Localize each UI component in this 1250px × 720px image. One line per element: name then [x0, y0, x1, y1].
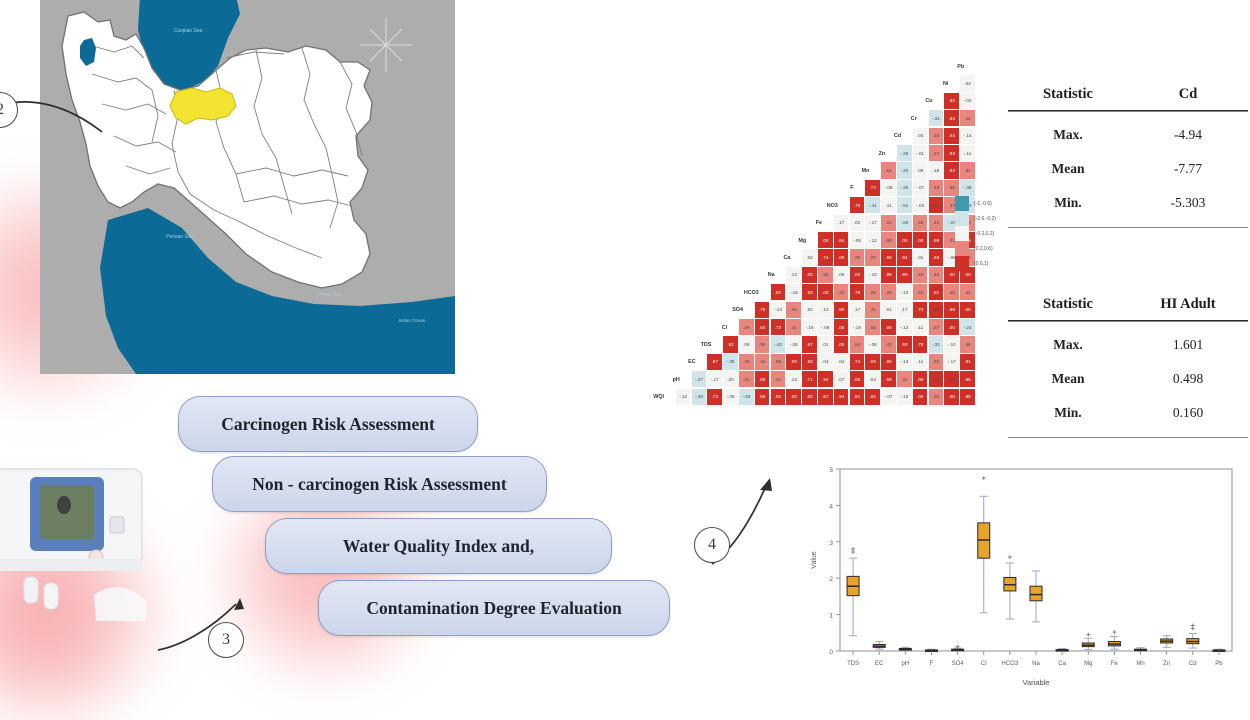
x-tick-label: HCO3	[1002, 661, 1019, 667]
corr-cell: -.13	[897, 354, 912, 370]
corr-cell: .71	[802, 371, 817, 387]
cell-statistic: Mean	[1008, 161, 1128, 177]
corr-row-label-f: F	[832, 180, 854, 197]
corr-cell: -.41	[865, 197, 880, 213]
cell-value: 0.498	[1128, 371, 1248, 387]
corr-cell: -.50	[897, 215, 912, 231]
cell-statistic: Min.	[1008, 405, 1128, 421]
cell-statistic: Max.	[1008, 127, 1128, 143]
legend-swatch	[955, 211, 969, 226]
correlation-matrix-grid: PbNi.03Cu.82-.03Cr-.31.63.42Cd.04.25.64-…	[628, 52, 976, 442]
corr-cell: .94	[818, 371, 833, 387]
corr-cell: .66	[881, 249, 896, 265]
corr-cell: .81	[929, 284, 944, 300]
corr-cell: .85	[881, 354, 896, 370]
corr-cell: .11	[913, 319, 928, 335]
corr-cell: .03	[960, 75, 975, 91]
corr-cell: .01	[818, 336, 833, 352]
corr-cell: .29	[881, 284, 896, 300]
corr-cell: .00	[834, 319, 849, 335]
step-marker-4-label: 4	[708, 536, 716, 554]
corr-cell: .83	[802, 284, 817, 300]
corr-cell: -.08	[881, 180, 896, 196]
cell-value: -7.77	[1128, 161, 1248, 177]
corr-cell: .41	[865, 302, 880, 318]
boxplot-chart: 012345ValueTDSECpHFSO4ClHCO3NaCaMgFeMnZn…	[806, 457, 1246, 695]
corr-cell: .40	[929, 215, 944, 231]
corr-cell: -.27	[692, 371, 707, 387]
corr-cell: -.09	[818, 319, 833, 335]
legend-swatch	[955, 241, 969, 256]
corr-row-label-cu: Cu	[911, 93, 933, 110]
table-row: Min. -5.303	[1008, 186, 1248, 220]
corr-cell: .94	[834, 389, 849, 405]
corr-cell: .17	[850, 302, 865, 318]
corr-cell: .11	[881, 197, 896, 213]
corr-cell: .60	[944, 371, 959, 387]
corr-cell: -.17	[707, 371, 722, 387]
corr-cell: .64	[755, 319, 770, 335]
cell-value: 1.601	[1128, 337, 1248, 353]
corr-cell: .78	[850, 284, 865, 300]
x-tick-label: SO4	[952, 661, 965, 667]
corr-cell: .41	[786, 319, 801, 335]
corr-cell: .60	[929, 371, 944, 387]
corr-cell: .00	[802, 267, 817, 283]
corr-cell: .00	[960, 302, 975, 318]
x-tick-label: F	[930, 661, 934, 667]
corr-cell: .58	[881, 232, 896, 248]
legend-label: (0.2,0.6)	[974, 241, 993, 256]
corr-cell: .41	[771, 371, 786, 387]
x-tick-label: Mn	[1136, 661, 1144, 667]
bubble-non-carcinogen-risk-assessment[interactable]: Non - carcinogen Risk Assessment	[212, 456, 547, 512]
instrument-base	[0, 559, 142, 571]
corr-cell: .54	[850, 336, 865, 352]
corr-cell: -.13	[897, 319, 912, 335]
bubble-label: Contamination Degree Evaluation	[366, 598, 621, 619]
y-tick-label: 0	[829, 649, 833, 656]
corr-cell: .13	[786, 371, 801, 387]
corr-cell: .31	[739, 371, 754, 387]
boxplot-svg: 012345ValueTDSECpHFSO4ClHCO3NaCaMgFeMnZn…	[806, 457, 1246, 695]
corr-cell: .01	[913, 249, 928, 265]
corr-row-label-hco3: HCO3	[737, 284, 759, 301]
corr-cell: .66	[755, 389, 770, 405]
corr-cell: -.42	[771, 336, 786, 352]
persian-gulf-label: Persian Gulf	[166, 234, 194, 240]
table-row: Min. 0.160	[1008, 396, 1248, 430]
corr-cell: .01	[881, 302, 896, 318]
graphical-abstract-canvas: Caspian Sea Persian Gulf Oman Sea Indian…	[0, 0, 1250, 700]
screen-content	[57, 496, 71, 514]
corr-cell: .11	[913, 354, 928, 370]
column-header-value: HI Adult	[1128, 296, 1248, 313]
column-header-statistic: Statistic	[1008, 296, 1128, 313]
bubble-water-quality-index[interactable]: Water Quality Index and,	[265, 518, 612, 574]
corr-cell: -.08	[865, 336, 880, 352]
corr-cell: .64	[834, 232, 849, 248]
corr-cell: .04	[913, 128, 928, 144]
corr-cell: .93	[944, 162, 959, 178]
corr-cell: .45	[929, 180, 944, 196]
corr-cell: .83	[802, 354, 817, 370]
legend-label: (-0.2,0.2)	[974, 226, 994, 241]
corr-cell: .88	[881, 267, 896, 283]
corr-cell: -.48	[692, 389, 707, 405]
corr-cell: .13	[786, 267, 801, 283]
corr-cell: .94	[897, 249, 912, 265]
x-tick-label: pH	[901, 661, 909, 667]
table-header-row: Statistic Cd	[1008, 82, 1248, 110]
corr-cell: .04	[865, 371, 880, 387]
table-bottom-rule	[1008, 437, 1248, 438]
y-axis-label: Value	[811, 551, 818, 568]
x-tick-label: Pb	[1215, 661, 1223, 667]
corr-row-label-ni: Ni	[926, 75, 948, 92]
corr-cell: .00	[865, 389, 880, 405]
corr-cell: .07	[834, 371, 849, 387]
corr-cell: -.38	[960, 180, 975, 196]
corr-cell: -.07	[913, 180, 928, 196]
step-marker-2-label: 2	[0, 101, 4, 119]
corr-cell: .78	[913, 336, 928, 352]
corr-cell: .55	[755, 336, 770, 352]
corr-cell: .74	[818, 249, 833, 265]
corr-cell: .22	[881, 215, 896, 231]
corr-cell: .00	[913, 232, 928, 248]
corr-cell: .90	[834, 302, 849, 318]
corr-row-label-zn: Zn	[863, 145, 885, 162]
corr-cell: .74	[850, 354, 865, 370]
corr-cell: .00	[786, 354, 801, 370]
corr-cell: .42	[960, 284, 975, 300]
legend-label: (0.6,1)	[974, 256, 988, 271]
corr-cell: .82	[723, 336, 738, 352]
x-axis-label: Variable	[1023, 678, 1050, 687]
corr-cell: .61	[929, 197, 944, 213]
corr-cell: .24	[929, 145, 944, 161]
corr-cell: .17	[834, 215, 849, 231]
corr-cell: .73	[913, 302, 928, 318]
corr-cell: .00	[944, 389, 959, 405]
corr-cell: .00	[834, 336, 849, 352]
x-tick-label: Ca	[1058, 661, 1066, 667]
column-header-value: Cd	[1128, 86, 1248, 103]
instrument-svg	[0, 455, 161, 630]
corr-cell: .72	[771, 319, 786, 335]
corr-cell: .67	[802, 336, 817, 352]
legend-swatch	[955, 226, 969, 241]
legend-label: (-0.6,-0.2)	[974, 211, 996, 226]
corr-cell: .04	[834, 354, 849, 370]
corr-cell: .00	[897, 232, 912, 248]
corr-cell: -.14	[960, 128, 975, 144]
corr-cell: .18	[929, 162, 944, 178]
corr-cell: .00	[865, 354, 880, 370]
corr-row-label-cd: Cd	[879, 128, 901, 145]
x-tick-label: Fe	[1111, 661, 1119, 667]
corr-row-label-pb: Pb	[942, 58, 964, 75]
corr-row-label-ph: pH	[658, 371, 680, 388]
corr-cell: -.17	[944, 354, 959, 370]
corr-cell: .00	[850, 267, 865, 283]
oman-sea-label: Oman Sea	[318, 292, 342, 298]
plot-frame	[840, 469, 1232, 651]
step-marker-3-label: 3	[222, 631, 230, 649]
corr-cell: -.19	[850, 319, 865, 335]
water-analyzer-instrument	[0, 455, 161, 630]
legend-label: (-1,-0.6)	[974, 196, 992, 211]
table-row: Max. 1.601	[1008, 328, 1248, 362]
legend-swatch	[955, 256, 969, 271]
y-tick-label: 1	[829, 613, 833, 620]
corr-cell: .41	[897, 371, 912, 387]
corr-cell: .83	[944, 145, 959, 161]
corr-cell: .99	[929, 232, 944, 248]
corr-cell: .81	[771, 284, 786, 300]
corr-cell: -.03	[960, 93, 975, 109]
sample-vial-2	[44, 583, 58, 609]
corr-cell: .00	[818, 232, 833, 248]
corr-cell: .09	[913, 162, 928, 178]
corr-row-label-mn: Mn	[847, 162, 869, 179]
corr-cell: -.25	[897, 145, 912, 161]
corr-cell: .43	[881, 336, 896, 352]
corr-row-label-wqi: WQI	[642, 389, 664, 406]
corr-cell: .58	[771, 354, 786, 370]
instrument-shadow	[94, 587, 146, 621]
corr-cell: -.15	[897, 389, 912, 405]
cell-value: -4.94	[1128, 127, 1248, 143]
corr-cell: .40	[929, 267, 944, 283]
corr-cell: -.24	[960, 319, 975, 335]
corr-cell: -.31	[929, 336, 944, 352]
corr-cell: -.12	[676, 389, 691, 405]
corr-cell: .53	[929, 354, 944, 370]
caspian-sea-label: Caspian Sea	[174, 28, 203, 34]
bubble-label: Water Quality Index and,	[343, 536, 534, 557]
corr-row-label-so4: SO4	[721, 302, 743, 319]
table-top-rule	[1008, 110, 1248, 112]
hi-adult-statistics-table: Statistic HI Adult Max. 1.601 Mean 0.498…	[1008, 292, 1248, 438]
corr-cell: .00	[881, 319, 896, 335]
x-tick-label: Mg	[1084, 661, 1092, 667]
corr-cell: -.03	[913, 197, 928, 213]
corr-cell: .93	[929, 249, 944, 265]
corr-cell: .64	[944, 128, 959, 144]
corr-cell: -.08	[786, 336, 801, 352]
corr-cell: .57	[929, 319, 944, 335]
corr-cell: .20	[723, 371, 738, 387]
corr-cell: .48	[913, 215, 928, 231]
corr-cell: .00	[802, 389, 817, 405]
corr-cell: .23	[834, 284, 849, 300]
corr-cell: .00	[913, 389, 928, 405]
instrument-port	[110, 517, 124, 533]
bubble-contamination-degree-evaluation[interactable]: Contamination Degree Evaluation	[318, 580, 670, 636]
y-tick-label: 2	[829, 576, 833, 583]
x-tick-label: Zn	[1163, 661, 1170, 667]
corr-cell: .42	[960, 110, 975, 126]
corr-cell: .00	[944, 319, 959, 335]
corr-cell: -.36	[723, 354, 738, 370]
corr-cell: .08	[739, 336, 754, 352]
bubble-label: Carcinogen Risk Assessment	[221, 414, 435, 435]
step-marker-3: 3	[208, 622, 244, 658]
corr-cell: .55	[865, 319, 880, 335]
corr-cell: .13	[818, 302, 833, 318]
corr-cell: -.19	[802, 319, 817, 335]
table-row: Mean 0.498	[1008, 362, 1248, 396]
cell-statistic: Mean	[1008, 371, 1128, 387]
corr-cell: .52	[818, 267, 833, 283]
corr-cell: .23	[913, 284, 928, 300]
corr-cell: .02	[802, 302, 817, 318]
corr-cell: -.07	[881, 389, 896, 405]
corr-cell: -.17	[865, 215, 880, 231]
corr-cell: .92	[771, 389, 786, 405]
corr-cell: -.40	[739, 389, 754, 405]
column-header-statistic: Statistic	[1008, 86, 1128, 103]
corr-cell: .00	[834, 249, 849, 265]
y-tick-label: 4	[829, 503, 833, 510]
step-marker-2: 2	[0, 92, 18, 128]
corr-row-label-na: Na	[753, 267, 775, 284]
table-header-row: Statistic HI Adult	[1008, 292, 1248, 320]
map-svg: Caspian Sea Persian Gulf Oman Sea Indian…	[40, 0, 455, 374]
y-tick-label: 5	[829, 467, 833, 474]
corr-cell: .28	[850, 249, 865, 265]
x-tick-label: Na	[1032, 661, 1040, 667]
box	[1030, 586, 1042, 601]
corr-cell: .25	[929, 128, 944, 144]
corr-cell: -.14	[771, 302, 786, 318]
corr-cell: .22	[865, 249, 880, 265]
corr-cell: .44	[755, 354, 770, 370]
legend-swatch	[955, 196, 969, 211]
corr-cell: -.31	[929, 110, 944, 126]
corr-cell: -.51	[897, 197, 912, 213]
corr-cell: .93	[897, 336, 912, 352]
cell-statistic: Max.	[1008, 337, 1128, 353]
corr-cell: .46	[786, 302, 801, 318]
cell-value: 0.160	[1128, 405, 1248, 421]
table-top-rule	[1008, 320, 1248, 322]
corr-cell: .63	[944, 110, 959, 126]
corr-cell: .67	[818, 389, 833, 405]
corr-cell: -.11	[960, 145, 975, 161]
step-marker-4: 4	[694, 527, 730, 563]
correlation-matrix: PbNi.03Cu.82-.03Cr-.31.63.42Cd.04.25.64-…	[628, 52, 976, 442]
bubble-carcinogen-risk-assessment[interactable]: Carcinogen Risk Assessment	[178, 396, 478, 452]
corr-cell: .05	[834, 267, 849, 283]
corr-cell: .26	[739, 354, 754, 370]
corr-cell: .75	[755, 302, 770, 318]
corr-cell: .17	[897, 302, 912, 318]
corr-cell: .00	[913, 371, 928, 387]
corr-cell: .81	[850, 389, 865, 405]
corr-cell: .95	[960, 389, 975, 405]
table-row: Mean -7.77	[1008, 152, 1248, 186]
corr-cell: -.10	[865, 267, 880, 283]
corr-cell: -.33	[897, 162, 912, 178]
corr-cell: .29	[739, 319, 754, 335]
bubble-label: Non - carcinogen Risk Assessment	[252, 474, 506, 495]
corr-cell: .04	[818, 354, 833, 370]
corr-row-label-mg: Mg	[784, 232, 806, 249]
corr-row-label-cl: Cl	[705, 319, 727, 336]
table-bottom-rule	[1008, 227, 1248, 228]
y-tick-label: 3	[829, 540, 833, 547]
x-tick-label: TDS	[847, 661, 859, 667]
corr-row-label-tds: TDS	[689, 336, 711, 353]
cell-statistic: Min.	[1008, 195, 1128, 211]
corr-cell: .00	[850, 371, 865, 387]
corr-row-label-fe: Fe	[800, 215, 822, 232]
corr-cell: .00	[818, 284, 833, 300]
corr-cell: .30	[929, 389, 944, 405]
corr-cell: .67	[707, 354, 722, 370]
corr-cell: .66	[755, 371, 770, 387]
corr-row-label-cr: Cr	[895, 110, 917, 127]
corr-cell: .25	[865, 284, 880, 300]
corr-cell: .00	[786, 389, 801, 405]
corr-cell: -.08	[850, 232, 865, 248]
table-row: Max. -4.94	[1008, 118, 1248, 152]
x-tick-label: EC	[875, 661, 884, 667]
corr-cell: .46	[960, 336, 975, 352]
corr-cell: .82	[944, 93, 959, 109]
corr-row-label-no3: NO3	[816, 197, 838, 214]
corr-cell: .73	[707, 389, 722, 405]
corr-cell: .60	[929, 302, 944, 318]
corr-cell: -.30	[897, 180, 912, 196]
x-tick-label: Cl	[981, 661, 987, 667]
corr-cell: -.10	[897, 284, 912, 300]
corr-cell: .02	[850, 215, 865, 231]
corr-cell: .53	[913, 267, 928, 283]
corr-row-label-ca: Ca	[768, 249, 790, 266]
corr-cell: .99	[881, 371, 896, 387]
cd-statistics-table: Statistic Cd Max. -4.94 Mean -7.77 Min. …	[1008, 82, 1248, 228]
corr-row-label-ec: EC	[674, 354, 696, 371]
corr-cell: -.18	[786, 284, 801, 300]
corr-cell: -.06	[723, 389, 738, 405]
corr-cell: .56	[944, 180, 959, 196]
corr-cell: .51	[881, 162, 896, 178]
cell-value: -5.303	[1128, 195, 1248, 211]
corr-cell: .99	[897, 267, 912, 283]
corr-cell: .91	[960, 354, 975, 370]
corr-cell: .89	[944, 302, 959, 318]
corr-cell: .51	[960, 162, 975, 178]
iran-study-area-map: Caspian Sea Persian Gulf Oman Sea Indian…	[40, 0, 455, 374]
corr-cell: .72	[865, 180, 880, 196]
x-tick-label: Cd	[1189, 661, 1197, 667]
corr-cell: .46	[944, 284, 959, 300]
map-corner-label: Indian Ocean	[399, 318, 426, 323]
corr-cell: .02	[802, 249, 817, 265]
corr-cell: -.12	[865, 232, 880, 248]
corr-cell: -.01	[913, 145, 928, 161]
corr-cell: .79	[850, 197, 865, 213]
sample-vial-1	[24, 577, 38, 603]
corr-cell: .95	[960, 371, 975, 387]
corr-cell: -.10	[944, 336, 959, 352]
